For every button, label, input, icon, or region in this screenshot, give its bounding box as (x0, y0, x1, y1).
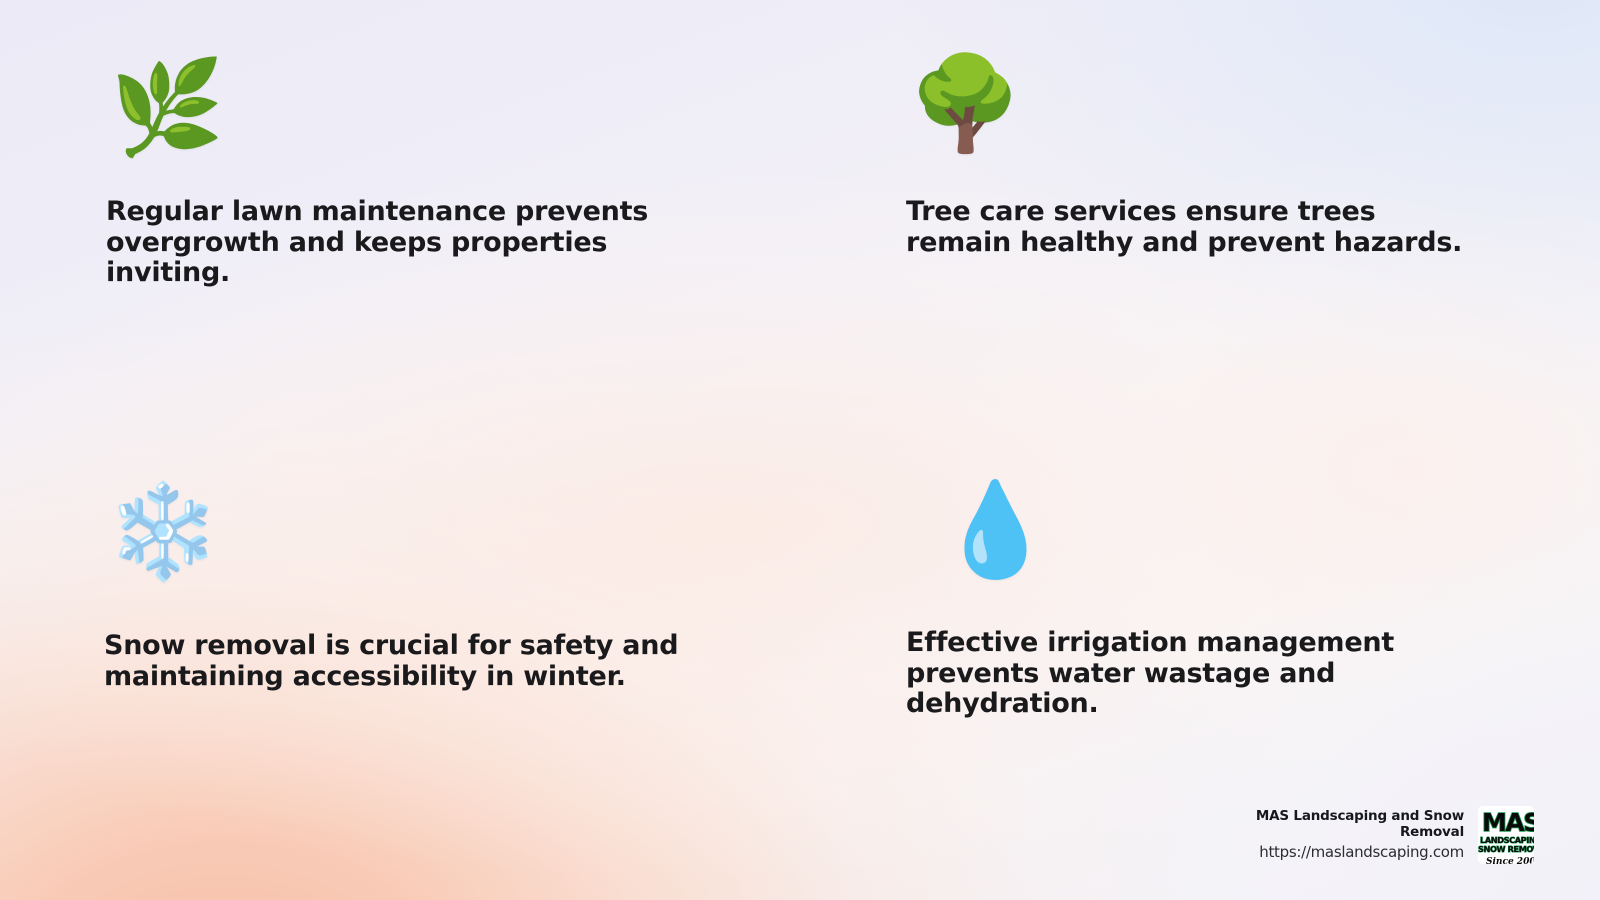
card-tree-care-text: Tree care services ensure trees remain h… (906, 197, 1486, 258)
droplet-icon: 💧 (938, 484, 1426, 576)
branding-text-block: MAS Landscaping and Snow Removal https:/… (1254, 808, 1464, 862)
card-lawn-maintenance: 🌿 Regular lawn maintenance prevents over… (106, 62, 666, 289)
card-tree-care: 🌳 Tree care services ensure trees remain… (906, 58, 1486, 258)
card-irrigation-text: Effective irrigation management prevents… (906, 628, 1426, 720)
mas-logo-inner: MAS LANDSCAPING SNOW REMOVAL Since 2004 (1482, 810, 1534, 864)
logo-subline-two: SNOW REMOVAL (1478, 845, 1534, 854)
card-snow-removal: ❄️ Snow removal is crucial for safety an… (104, 486, 684, 692)
logo-wordmark: MAS (1482, 810, 1534, 835)
logo-tagline: Since 2004 (1486, 857, 1534, 864)
mas-logo-badge[interactable]: MAS LANDSCAPING SNOW REMOVAL Since 2004 (1478, 806, 1534, 864)
tree-icon: 🌳 (908, 58, 1486, 150)
snowflake-icon: ❄️ (106, 486, 684, 578)
company-name: MAS Landscaping and Snow Removal (1254, 808, 1464, 840)
branding-footer: MAS Landscaping and Snow Removal https:/… (1254, 806, 1534, 864)
herb-icon: 🌿 (110, 62, 666, 154)
company-url[interactable]: https://maslandscaping.com (1254, 843, 1464, 862)
card-lawn-maintenance-text: Regular lawn maintenance prevents overgr… (106, 197, 666, 289)
card-snow-removal-text: Snow removal is crucial for safety and m… (104, 631, 684, 692)
cards-grid: 🌿 Regular lawn maintenance prevents over… (0, 0, 1600, 900)
card-irrigation: 💧 Effective irrigation management preven… (906, 484, 1426, 720)
